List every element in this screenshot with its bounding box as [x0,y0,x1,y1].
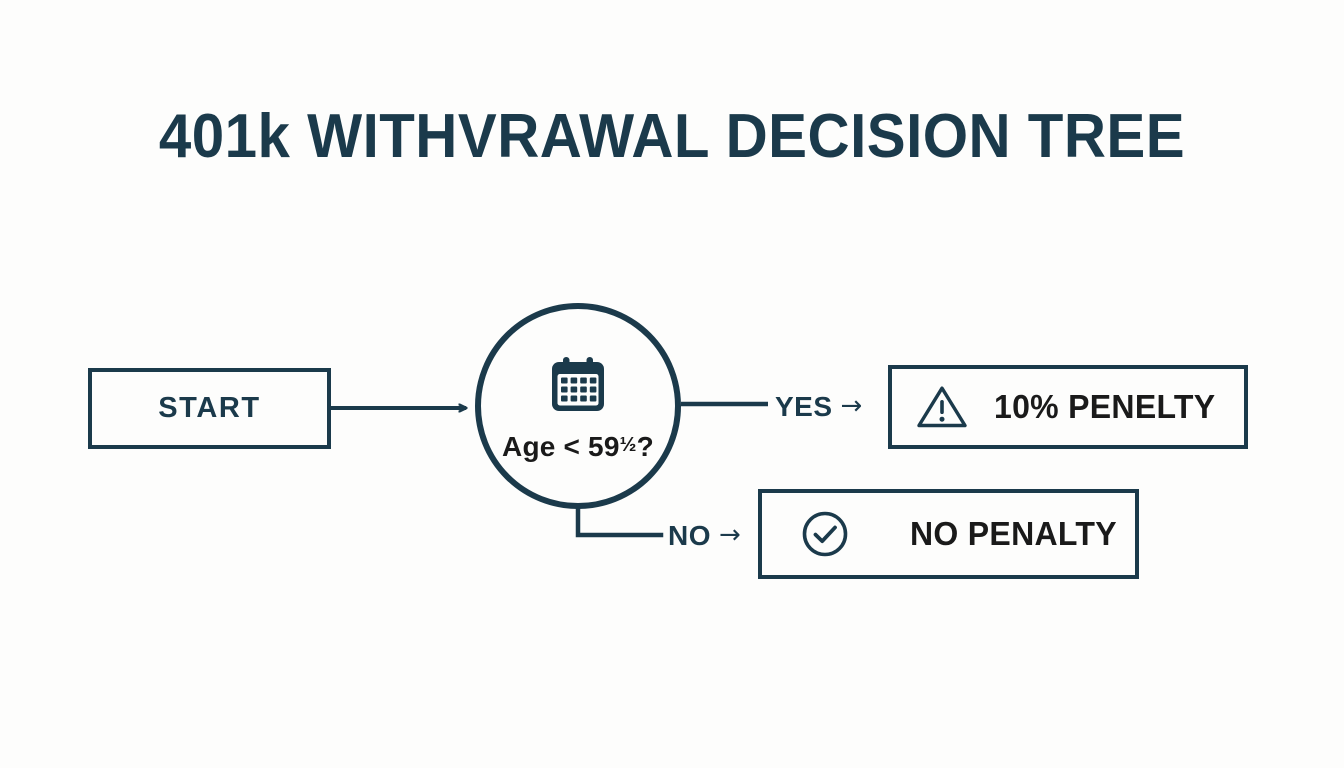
edge-label-no-text: NO [668,520,711,552]
edge-label-no: NO → [668,520,741,552]
edge-label-yes: YES → [775,391,863,423]
warning-triangle-icon [916,384,968,430]
page-title: 401k WITHVRAWAL DECISION TREE [40,104,1303,169]
node-yes-outcome[interactable]: 10% PENELTY [888,365,1248,449]
node-start-label: START [158,392,261,425]
arrow-right-icon: → [719,522,741,548]
arrow-right-icon: → [841,393,863,419]
node-no-outcome-label: NO PENALTY [910,515,1117,553]
edge-label-yes-text: YES [775,391,833,423]
node-start[interactable]: START [88,368,331,449]
node-no-outcome[interactable]: NO PENALTY [758,489,1139,579]
node-yes-outcome-label: 10% PENELTY [994,388,1215,426]
connector-decision-to-no [578,506,661,535]
node-decision[interactable] [475,303,681,509]
check-circle-icon [800,509,850,559]
